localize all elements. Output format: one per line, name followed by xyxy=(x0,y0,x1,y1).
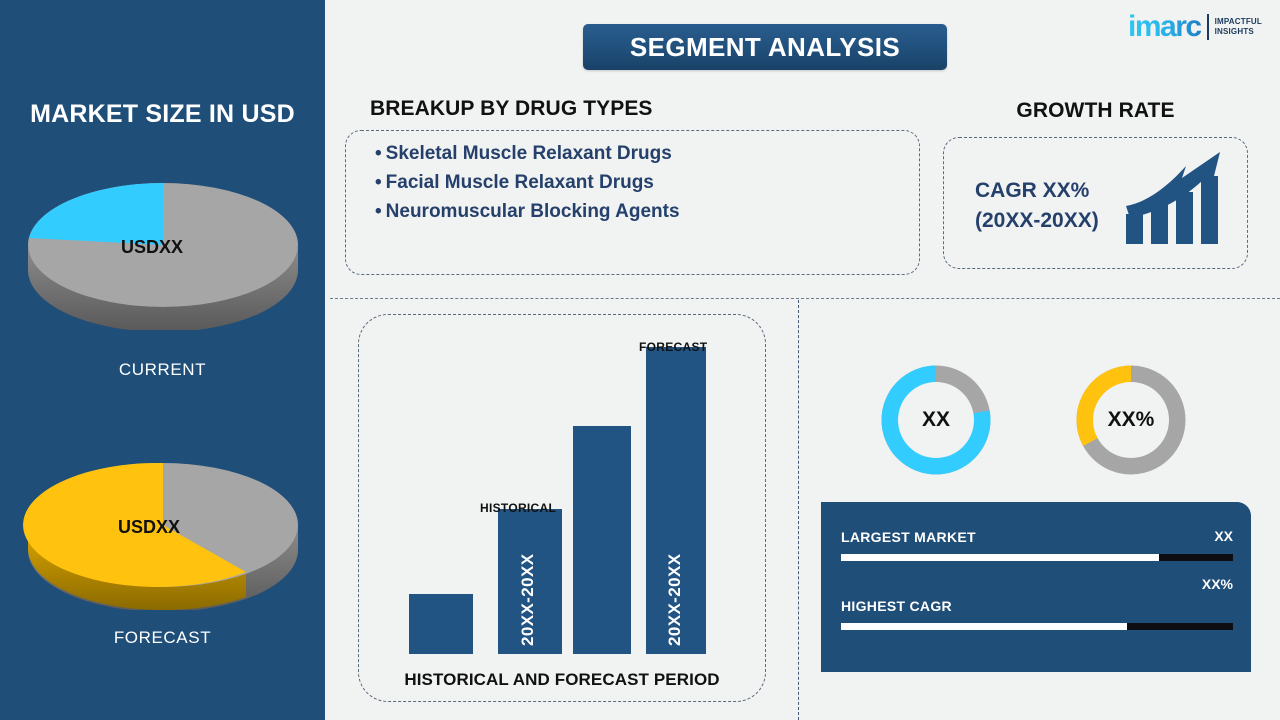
pie-chart-forecast: USDXX xyxy=(18,440,308,610)
bar-chart: 20XX-20XX 20XX-20XX HISTORICAL FORECAST … xyxy=(358,314,766,702)
pie-current-label: USDXX xyxy=(121,237,183,257)
sidebar-title: MARKET SIZE IN USD xyxy=(0,100,325,129)
pie-current-svg: USDXX xyxy=(18,160,308,330)
historical-annotation: HISTORICAL xyxy=(480,501,556,515)
pie-current-caption: CURRENT xyxy=(0,360,325,380)
largest-market-donut: XX xyxy=(881,365,991,475)
pie-chart-current: USDXX xyxy=(18,160,308,330)
logo-wordmark: imarc xyxy=(1128,12,1201,42)
stat-row-largest-market: LARGEST MARKET XX xyxy=(841,529,1233,561)
logo-divider xyxy=(1207,14,1209,40)
bar-label: 20XX-20XX xyxy=(518,554,538,646)
pie-forecast-label: USDXX xyxy=(118,517,180,537)
logo-tagline-line2: INSIGHTS xyxy=(1215,27,1262,37)
breakup-heading: BREAKUP BY DRUG TYPES xyxy=(370,97,653,121)
bullet-icon: • xyxy=(375,143,382,164)
stat-label: HIGHEST CAGR xyxy=(841,598,952,614)
stat-row-highest-cagr: HIGHEST CAGR XX% xyxy=(841,598,1233,630)
logo-tagline: IMPACTFUL INSIGHTS xyxy=(1215,17,1262,37)
list-item-label: Facial Muscle Relaxant Drugs xyxy=(386,172,654,193)
stat-value: XX xyxy=(1214,528,1233,544)
stat-progress-fill xyxy=(841,623,1127,630)
pie-forecast-caption: FORECAST xyxy=(0,628,325,648)
bar-item: 20XX-20XX xyxy=(498,509,562,654)
growth-cagr-line1: CAGR XX% xyxy=(975,176,1099,206)
imarc-logo: imarc IMPACTFUL INSIGHTS xyxy=(1128,12,1262,42)
bar-item xyxy=(573,426,631,654)
horizontal-divider xyxy=(330,298,1280,299)
bar-item xyxy=(409,594,473,654)
vertical-divider xyxy=(798,300,799,720)
bar-item: 20XX-20XX xyxy=(646,347,706,654)
highest-cagr-donut: XX% xyxy=(1076,365,1186,475)
forecast-annotation: FORECAST xyxy=(639,340,707,354)
stats-panel: LARGEST MARKET XX HIGHEST CAGR XX% xyxy=(821,502,1251,672)
page-title: SEGMENT ANALYSIS xyxy=(583,24,947,70)
growth-cagr-text: CAGR XX% (20XX-20XX) xyxy=(975,176,1099,236)
growth-cagr-line2: (20XX-20XX) xyxy=(975,206,1099,236)
stat-label: LARGEST MARKET xyxy=(841,529,976,545)
pie-forecast-svg: USDXX xyxy=(18,440,308,610)
list-item-label: Skeletal Muscle Relaxant Drugs xyxy=(386,143,672,164)
stat-progress-fill xyxy=(841,554,1159,561)
bar-label: 20XX-20XX xyxy=(665,554,685,646)
infographic-canvas: MARKET SIZE IN USD USDXX CURRENT xyxy=(0,0,1280,720)
stat-value: XX% xyxy=(1202,576,1233,592)
stat-progress-track xyxy=(841,623,1233,630)
list-item: •Facial Muscle Relaxant Drugs xyxy=(375,168,680,197)
list-item: •Skeletal Muscle Relaxant Drugs xyxy=(375,139,680,168)
logo-tagline-line1: IMPACTFUL xyxy=(1215,17,1262,27)
bullet-icon: • xyxy=(375,172,382,193)
list-item: •Neuromuscular Blocking Agents xyxy=(375,197,680,226)
largest-market-donut-value: XX xyxy=(898,382,974,458)
stat-progress-track xyxy=(841,554,1233,561)
bullet-icon: • xyxy=(375,201,382,222)
growth-heading: GROWTH RATE xyxy=(943,99,1248,123)
breakup-list: •Skeletal Muscle Relaxant Drugs •Facial … xyxy=(375,139,680,226)
bar-chart-axis-label: HISTORICAL AND FORECAST PERIOD xyxy=(358,670,766,690)
list-item-label: Neuromuscular Blocking Agents xyxy=(386,201,680,222)
growth-arrow-chart-icon xyxy=(1124,148,1228,248)
highest-cagr-donut-value: XX% xyxy=(1093,382,1169,458)
